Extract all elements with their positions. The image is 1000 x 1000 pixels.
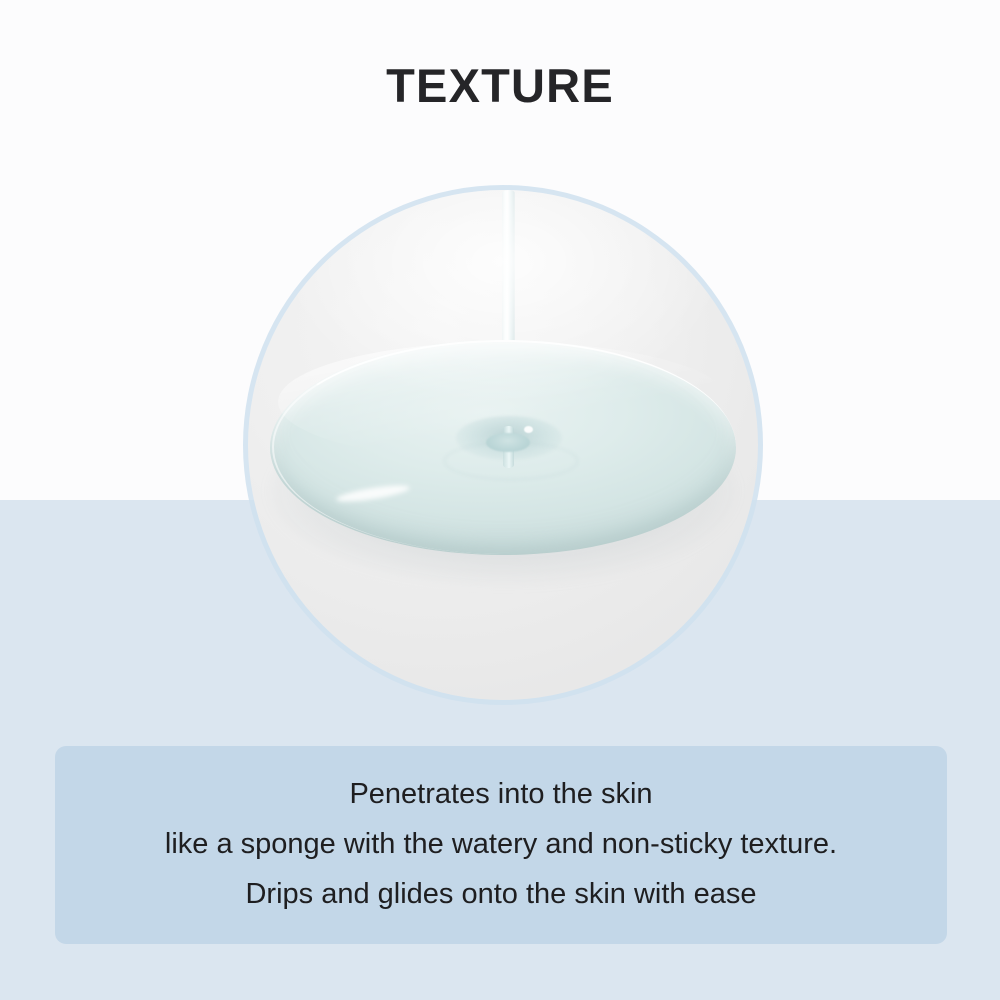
caption-line-2: like a sponge with the watery and non-st… — [165, 820, 837, 870]
page-title: TEXTURE — [0, 62, 1000, 109]
texture-product-visual — [243, 185, 763, 705]
stream-impact-bubble — [524, 426, 533, 433]
texture-promo-page: TEXTURE Penetrates into the skin like a … — [0, 0, 1000, 1000]
stream-impact-core — [486, 433, 530, 452]
hero-clip-mask — [248, 190, 758, 700]
caption-line-1: Penetrates into the skin — [349, 770, 652, 820]
caption-panel: Penetrates into the skin like a sponge w… — [55, 746, 947, 944]
caption-line-3: Drips and glides onto the skin with ease — [245, 870, 756, 920]
